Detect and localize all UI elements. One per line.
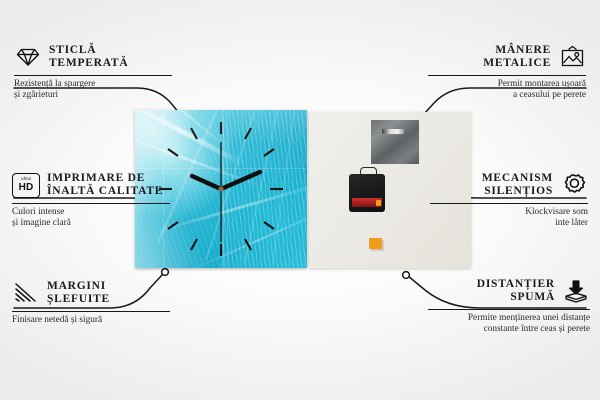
feature-distantier-spuma: DISTANȚIER SPUMĂ Permite menținerea unei…: [428, 276, 590, 336]
foam-spacer-pad: [369, 238, 382, 249]
feature-divider: [14, 75, 172, 76]
feature-divider: [430, 203, 588, 204]
hand-hub: [218, 186, 223, 191]
feature-manere-metalice: MÂNERE METALICE Permit montarea ușoară a…: [428, 42, 586, 102]
feature-subtitle: Finisare netedă și sigură: [12, 315, 170, 326]
ultra-hd-icon-large-text: HD: [19, 183, 34, 193]
feature-subtitle: Klockvisare som inte låter: [430, 207, 588, 230]
product-image: [135, 110, 471, 270]
clock-movement-mechanism: [349, 174, 385, 212]
feature-divider: [12, 203, 170, 204]
feature-mecanism-silentios: MECANISM SILENȚIOS Klockvisare som inte …: [430, 170, 588, 230]
battery: [352, 198, 382, 207]
hour-hand: [192, 176, 221, 189]
clock-hands: [192, 142, 260, 242]
feature-title: MARGINI ȘLEFUITE: [47, 280, 110, 306]
battery-terminal: [376, 200, 381, 206]
feature-title: MECANISM SILENȚIOS: [482, 172, 553, 198]
connector-endpoint-distantier: [403, 272, 410, 279]
feature-subtitle: Permit montarea ușoară a ceasului pe per…: [428, 79, 586, 102]
feature-imprimare-calitate: ultra HD IMPRIMARE DE ÎNALTĂ CALITATE Cu…: [12, 170, 170, 230]
picture-hanger-icon: [558, 44, 586, 70]
foam-spacer-icon: [562, 278, 590, 304]
feature-subtitle: Rezistență la spargere și zgârieturi: [14, 79, 172, 102]
product-feature-infographic: STICLĂ TEMPERATĂ Rezistență la spargere …: [0, 0, 600, 400]
metal-hanger-plate: [371, 120, 419, 164]
feature-subtitle: Permite menținerea unei distanțe constan…: [428, 313, 590, 336]
gear-icon: [560, 172, 588, 198]
feature-title: DISTANȚIER SPUMĂ: [477, 278, 555, 304]
feature-margini-slefuite: MARGINI ȘLEFUITE Finisare netedă și sigu…: [12, 278, 170, 326]
ultra-hd-icon: ultra HD: [12, 172, 40, 198]
minute-hand: [221, 172, 260, 189]
metal-hanger-slot: [382, 129, 404, 134]
feature-subtitle: Culori intense și imagine clară: [12, 207, 170, 230]
beveled-edge-icon: [12, 280, 40, 306]
feature-title: MÂNERE METALICE: [483, 44, 551, 70]
feature-divider: [12, 311, 170, 312]
feature-divider: [428, 75, 586, 76]
diamond-icon: [14, 44, 42, 70]
feature-title: STICLĂ TEMPERATĂ: [49, 44, 128, 70]
feature-title: IMPRIMARE DE ÎNALTĂ CALITATE: [47, 172, 163, 198]
feature-sticla-temperata: STICLĂ TEMPERATĂ Rezistență la spargere …: [14, 42, 172, 102]
feature-divider: [428, 309, 590, 310]
